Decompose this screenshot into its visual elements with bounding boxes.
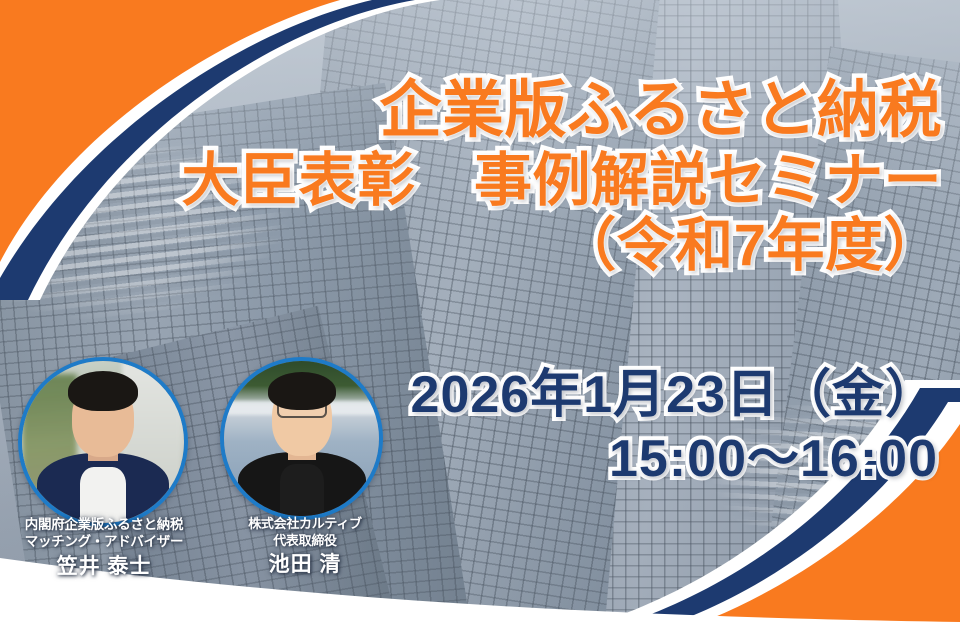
avatar-2-hair <box>268 372 336 410</box>
seminar-time: 15:00〜16:00 <box>298 430 938 488</box>
avatar-1-shirt <box>80 467 126 523</box>
speaker-2-organization: 株式会社カルティブ <box>212 516 398 533</box>
speaker-1-organization: 内閣府企業版ふるさと納税 <box>0 516 208 533</box>
headline-line-1: 企業版ふるさと納税 <box>172 78 942 144</box>
schedule-block: 2026年1月23日（金） 15:00〜16:00 <box>298 366 938 488</box>
speaker-photo-1 <box>18 357 188 527</box>
seminar-date: 2026年1月23日（金） <box>298 366 938 424</box>
avatar-1-hair <box>68 371 138 411</box>
headline-line-3: （令和7年度） <box>172 215 942 276</box>
speaker-2-name: 池田 清 <box>212 552 398 579</box>
avatar-2-shirt <box>280 464 324 516</box>
headline-line-2: 大臣表彰 事例解説セミナー <box>172 150 942 211</box>
avatar-2 <box>220 357 383 520</box>
speaker-caption-1: 内閣府企業版ふるさと納税 マッチング・アドバイザー 笠井 泰士 <box>0 516 208 580</box>
speaker-1-name: 笠井 泰士 <box>0 554 208 581</box>
speaker-2-role: 代表取締役 <box>212 533 398 550</box>
seminar-banner: 企業版ふるさと納税 大臣表彰 事例解説セミナー （令和7年度） 2026年1月2… <box>0 0 960 640</box>
speaker-caption-2: 株式会社カルティブ 代表取締役 池田 清 <box>212 516 398 579</box>
headline-block: 企業版ふるさと納税 大臣表彰 事例解説セミナー （令和7年度） <box>172 78 942 277</box>
speaker-1-role: マッチング・アドバイザー <box>0 533 208 550</box>
avatar-1 <box>18 357 188 527</box>
speaker-photo-2 <box>220 357 383 520</box>
